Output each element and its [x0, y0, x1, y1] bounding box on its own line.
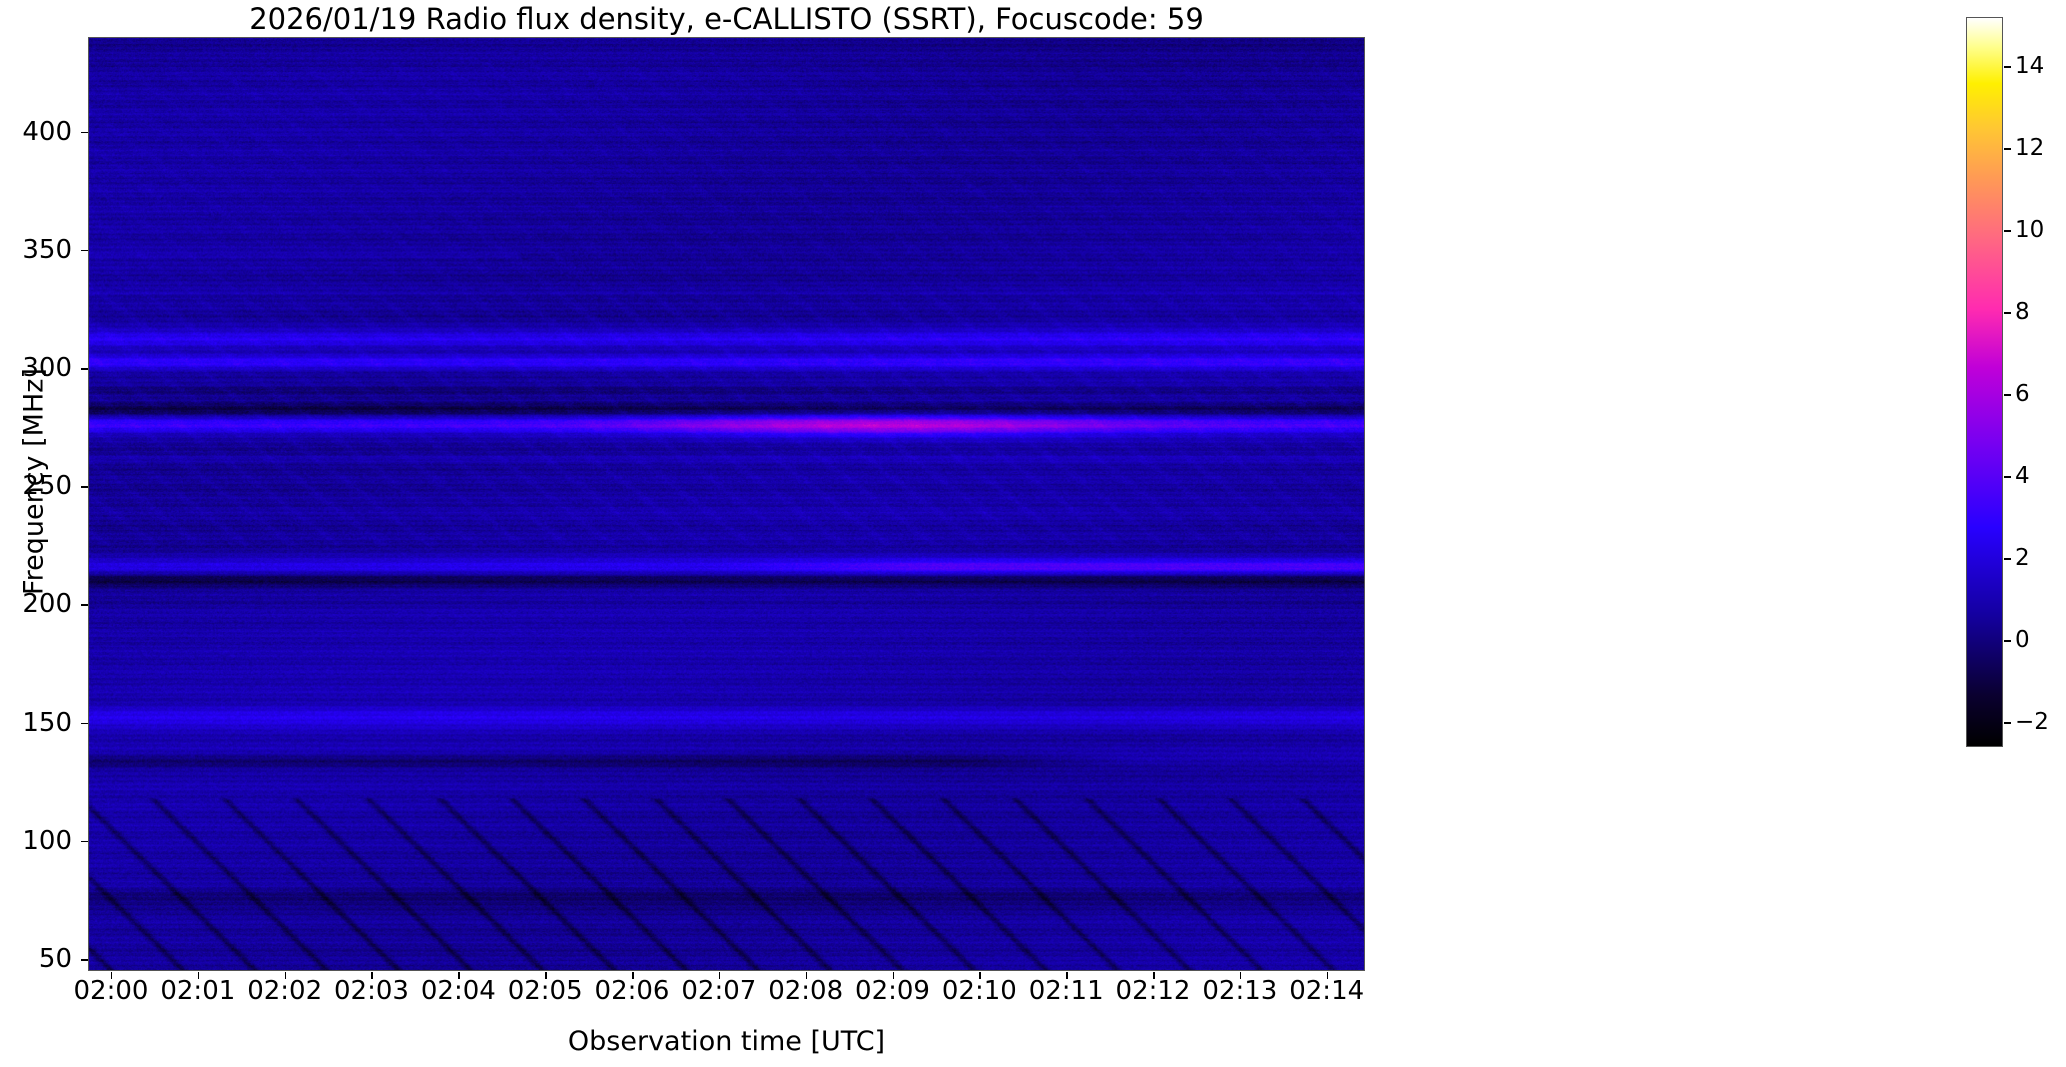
colorbar-tick-mark [2004, 558, 2011, 560]
x-tick-mark [198, 972, 200, 979]
y-tick-mark [81, 723, 88, 725]
x-tick-mark [1327, 972, 1329, 979]
y-tick-mark [81, 368, 88, 370]
x-tick-mark [285, 972, 287, 979]
y-tick-label: 50 [0, 946, 72, 972]
y-tick-mark [81, 132, 88, 134]
colorbar [1966, 17, 2003, 747]
x-tick-mark [458, 972, 460, 979]
y-tick-label: 250 [0, 473, 72, 499]
x-tick-mark [806, 972, 808, 979]
colorbar-tick-label: 0 [2015, 629, 2066, 652]
x-tick-mark [1153, 972, 1155, 979]
colorbar-tick-mark [2004, 230, 2011, 232]
x-tick-mark [979, 972, 981, 979]
colorbar-tick-label: 10 [2015, 219, 2066, 242]
colorbar-tick-mark [2004, 476, 2011, 478]
x-axis-label: Observation time [UTC] [88, 1026, 1365, 1057]
y-tick-label: 100 [0, 828, 72, 854]
y-tick-label: 200 [0, 591, 72, 617]
x-tick-mark [371, 972, 373, 979]
y-tick-label: 300 [0, 355, 72, 381]
x-tick-label: 02:14 [1262, 978, 1392, 1004]
colorbar-tick-label: −2 [2015, 711, 2066, 734]
colorbar-tick-label: 14 [2015, 55, 2066, 78]
colorbar-tick-mark [2004, 640, 2011, 642]
colorbar-tick-mark [2004, 312, 2011, 314]
page-title: 2026/01/19 Radio flux density, e-CALLIST… [88, 2, 1365, 36]
colorbar-tick-mark [2004, 722, 2011, 724]
colorbar-gradient [1966, 17, 2003, 747]
colorbar-tick-mark [2004, 66, 2011, 68]
colorbar-tick-mark [2004, 394, 2011, 396]
x-tick-mark [1066, 972, 1068, 979]
x-tick-mark [1240, 972, 1242, 979]
spectrogram-image [89, 38, 1364, 970]
y-tick-mark [81, 841, 88, 843]
x-tick-mark [545, 972, 547, 979]
y-tick-label: 350 [0, 237, 72, 263]
y-tick-mark [81, 250, 88, 252]
colorbar-tick-label: 12 [2015, 137, 2066, 160]
y-tick-label: 150 [0, 710, 72, 736]
y-tick-mark [81, 486, 88, 488]
x-tick-mark [111, 972, 113, 979]
colorbar-tick-mark [2004, 148, 2011, 150]
colorbar-tick-label: 4 [2015, 465, 2066, 488]
y-tick-mark [81, 959, 88, 961]
x-tick-mark [893, 972, 895, 979]
colorbar-tick-label: 6 [2015, 383, 2066, 406]
y-tick-mark [81, 604, 88, 606]
colorbar-tick-label: 2 [2015, 547, 2066, 570]
colorbar-tick-label: 8 [2015, 301, 2066, 324]
y-tick-label: 400 [0, 119, 72, 145]
spectrogram-plot [88, 37, 1365, 971]
x-tick-mark [719, 972, 721, 979]
x-tick-mark [632, 972, 634, 979]
